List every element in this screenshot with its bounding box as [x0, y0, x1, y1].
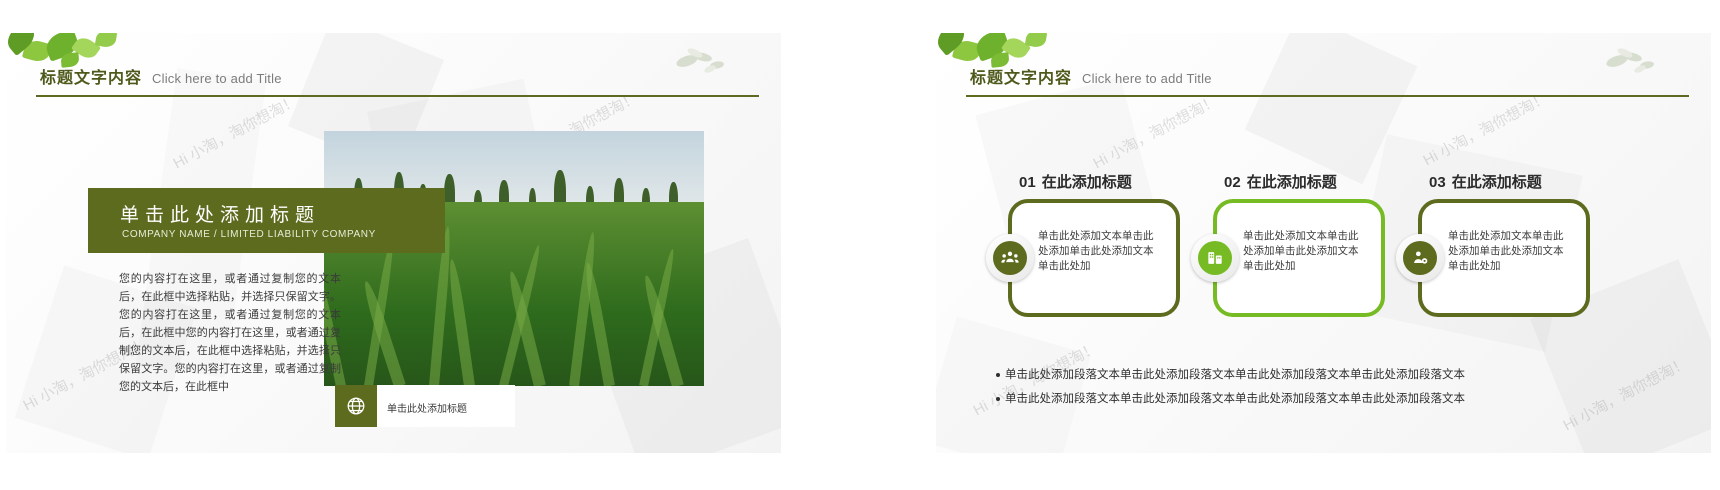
person-gear-icon [1403, 241, 1437, 275]
column-label-3: 在此添加标题 [1452, 174, 1542, 191]
column-number-2: 02 [1224, 174, 1241, 191]
badge-3 [1396, 234, 1444, 282]
card-2-text: 单击此处添加文本单击此处添加单击此处添加文本单击此处加 [1243, 229, 1363, 274]
title-main: 单击此处添加标题 [120, 200, 320, 227]
slide-deck: Hi 小淘，淘你想淘！ Hi 小淘，淘你想淘！ Hi 小淘，淘你想淘！ Hi 小… [0, 0, 1720, 490]
bullet-item: 单击此处添加段落文本单击此处添加段落文本单击此处添加段落文本单击此处添加段落文本 [996, 363, 1686, 387]
header-title-cn: 标题文字内容 [40, 64, 142, 88]
header-title-group: 标题文字内容 Click here to add Title [40, 64, 282, 88]
column-title-3: 03在此添加标题 [1429, 171, 1542, 192]
column-title-1: 01在此添加标题 [1019, 171, 1132, 192]
header-title-en: Click here to add Title [152, 71, 282, 86]
bullet-item: 单击此处添加段落文本单击此处添加段落文本单击此处添加段落文本单击此处添加段落文本 [996, 387, 1686, 411]
title-sub: COMPANY NAME / LIMITED LIABILITY COMPANY [122, 229, 376, 240]
badge-2 [1191, 234, 1239, 282]
slide-1: Hi 小淘，淘你想淘！ Hi 小淘，淘你想淘！ Hi 小淘，淘你想淘！ Hi 小… [6, 33, 781, 453]
building-icon [1198, 241, 1232, 275]
slide-header: 标题文字内容 Click here to add Title [6, 33, 781, 105]
header-title-en: Click here to add Title [1082, 71, 1212, 86]
caption-text: 单击此处添加标题 [387, 400, 467, 415]
people-group-icon [993, 241, 1027, 275]
column-label-1: 在此添加标题 [1042, 174, 1132, 191]
title-box: 单击此处添加标题 COMPANY NAME / LIMITED LIABILIT… [88, 188, 445, 253]
header-divider [36, 95, 759, 97]
badge-1 [986, 234, 1034, 282]
card-3-text: 单击此处添加文本单击此处添加单击此处添加文本单击此处加 [1448, 229, 1568, 274]
globe-icon [335, 385, 377, 427]
bullet-text-1: 单击此处添加段落文本单击此处添加段落文本单击此处添加段落文本单击此处添加段落文本 [1005, 369, 1465, 381]
cornfield-photo [324, 131, 704, 386]
bullet-dot [996, 397, 1000, 401]
bullet-dot [996, 373, 1000, 377]
bullet-list: 单击此处添加段落文本单击此处添加段落文本单击此处添加段落文本单击此处添加段落文本… [996, 363, 1686, 411]
birds-decoration [1595, 37, 1665, 81]
header-divider [966, 95, 1689, 97]
column-label-2: 在此添加标题 [1247, 174, 1337, 191]
header-title-cn: 标题文字内容 [970, 64, 1072, 88]
column-number-1: 01 [1019, 174, 1036, 191]
body-paragraph: 您的内容打在这里，或者通过复制您的文本后，在此框中选择粘贴，并选择只保留文字。您… [119, 270, 341, 396]
column-number-3: 03 [1429, 174, 1446, 191]
card-1-text: 单击此处添加文本单击此处添加单击此处添加文本单击此处加 [1038, 229, 1158, 274]
column-title-2: 02在此添加标题 [1224, 171, 1337, 192]
slide-header: 标题文字内容 Click here to add Title [936, 33, 1711, 105]
bullet-text-2: 单击此处添加段落文本单击此处添加段落文本单击此处添加段落文本单击此处添加段落文本 [1005, 393, 1465, 405]
header-title-group: 标题文字内容 Click here to add Title [970, 64, 1212, 88]
slide-2: Hi 小淘，淘你想淘！ Hi 小淘，淘你想淘！ Hi 小淘，淘你想淘！ Hi 小… [936, 33, 1711, 453]
birds-decoration [665, 37, 735, 81]
